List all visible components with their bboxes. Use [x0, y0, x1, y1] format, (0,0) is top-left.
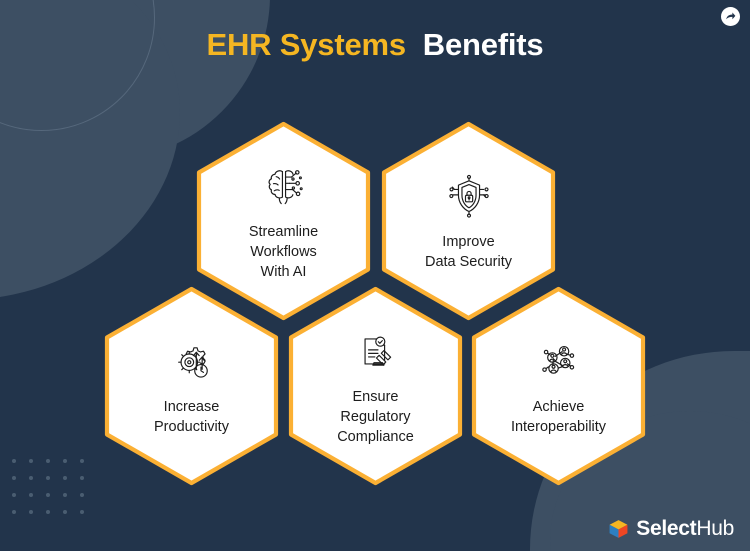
hex-label: Ensure Regulatory Compliance: [337, 387, 414, 447]
gear-arrows-clock-icon: [165, 336, 219, 390]
network-people-icon: [532, 336, 586, 390]
hex-label: Streamline Workflows With AI: [249, 222, 318, 282]
selecthub-cube-logo-icon: [608, 519, 629, 539]
selecthub-logo[interactable]: SelectHub: [608, 518, 734, 539]
hexagon-content: Increase Productivity: [104, 286, 279, 486]
hex-card-ensure-regulatory-compliance[interactable]: Ensure Regulatory Compliance: [288, 286, 463, 486]
hex-card-increase-productivity[interactable]: Increase Productivity: [104, 286, 279, 486]
infographic-canvas: EHR Systems Benefits: [0, 0, 750, 551]
hexagon-content: Achieve Interoperability: [471, 286, 646, 486]
hex-card-achieve-interoperability[interactable]: Achieve Interoperability: [471, 286, 646, 486]
document-gavel-icon: [349, 326, 403, 380]
logo-text-bold: Select: [636, 517, 696, 540]
selecthub-logo-text: SelectHub: [636, 518, 734, 539]
hexagon-grid: Streamline Workflows With AI: [0, 0, 750, 551]
logo-text-light: Hub: [696, 517, 734, 540]
hex-label: Achieve Interoperability: [511, 397, 606, 437]
ai-brain-circuit-icon: [257, 161, 311, 215]
shield-lock-icon: [442, 171, 496, 225]
hexagon-content: Ensure Regulatory Compliance: [288, 286, 463, 486]
hex-label: Increase Productivity: [154, 397, 229, 437]
hex-label: Improve Data Security: [425, 232, 512, 272]
